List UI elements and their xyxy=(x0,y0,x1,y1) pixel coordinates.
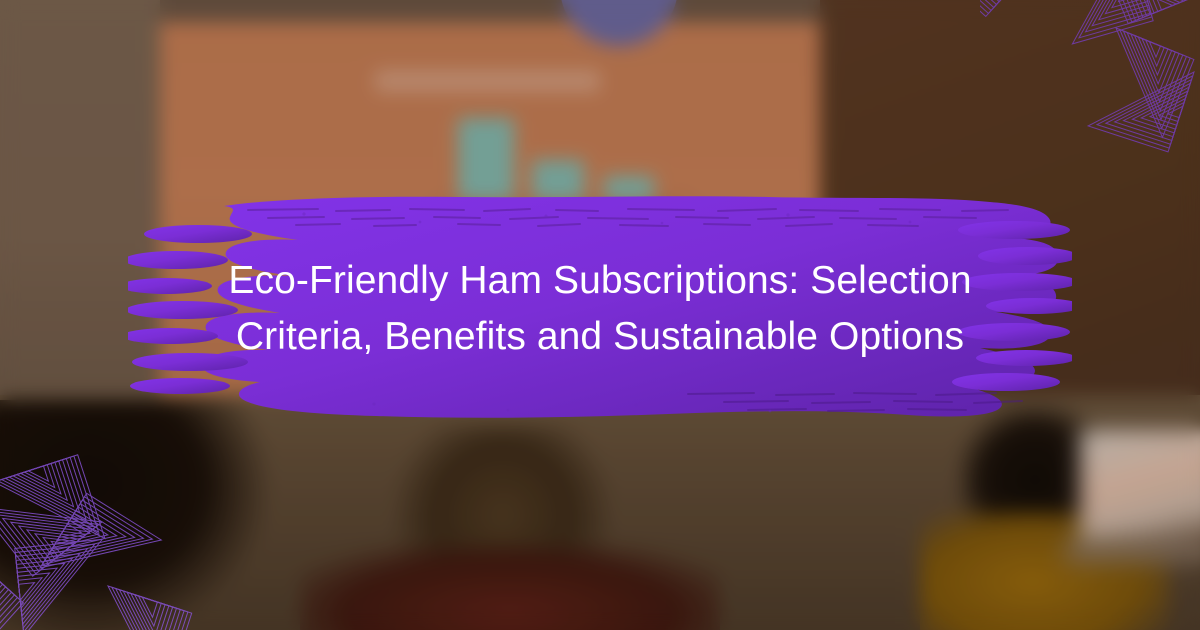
blog-title-banner: Eco-Friendly Ham Subscriptions: Selectio… xyxy=(0,0,1200,630)
page-title: Eco-Friendly Ham Subscriptions: Selectio… xyxy=(228,253,971,365)
title-block: Eco-Friendly Ham Subscriptions: Selectio… xyxy=(128,178,1072,440)
title-brush-banner: Eco-Friendly Ham Subscriptions: Selectio… xyxy=(128,178,1072,440)
